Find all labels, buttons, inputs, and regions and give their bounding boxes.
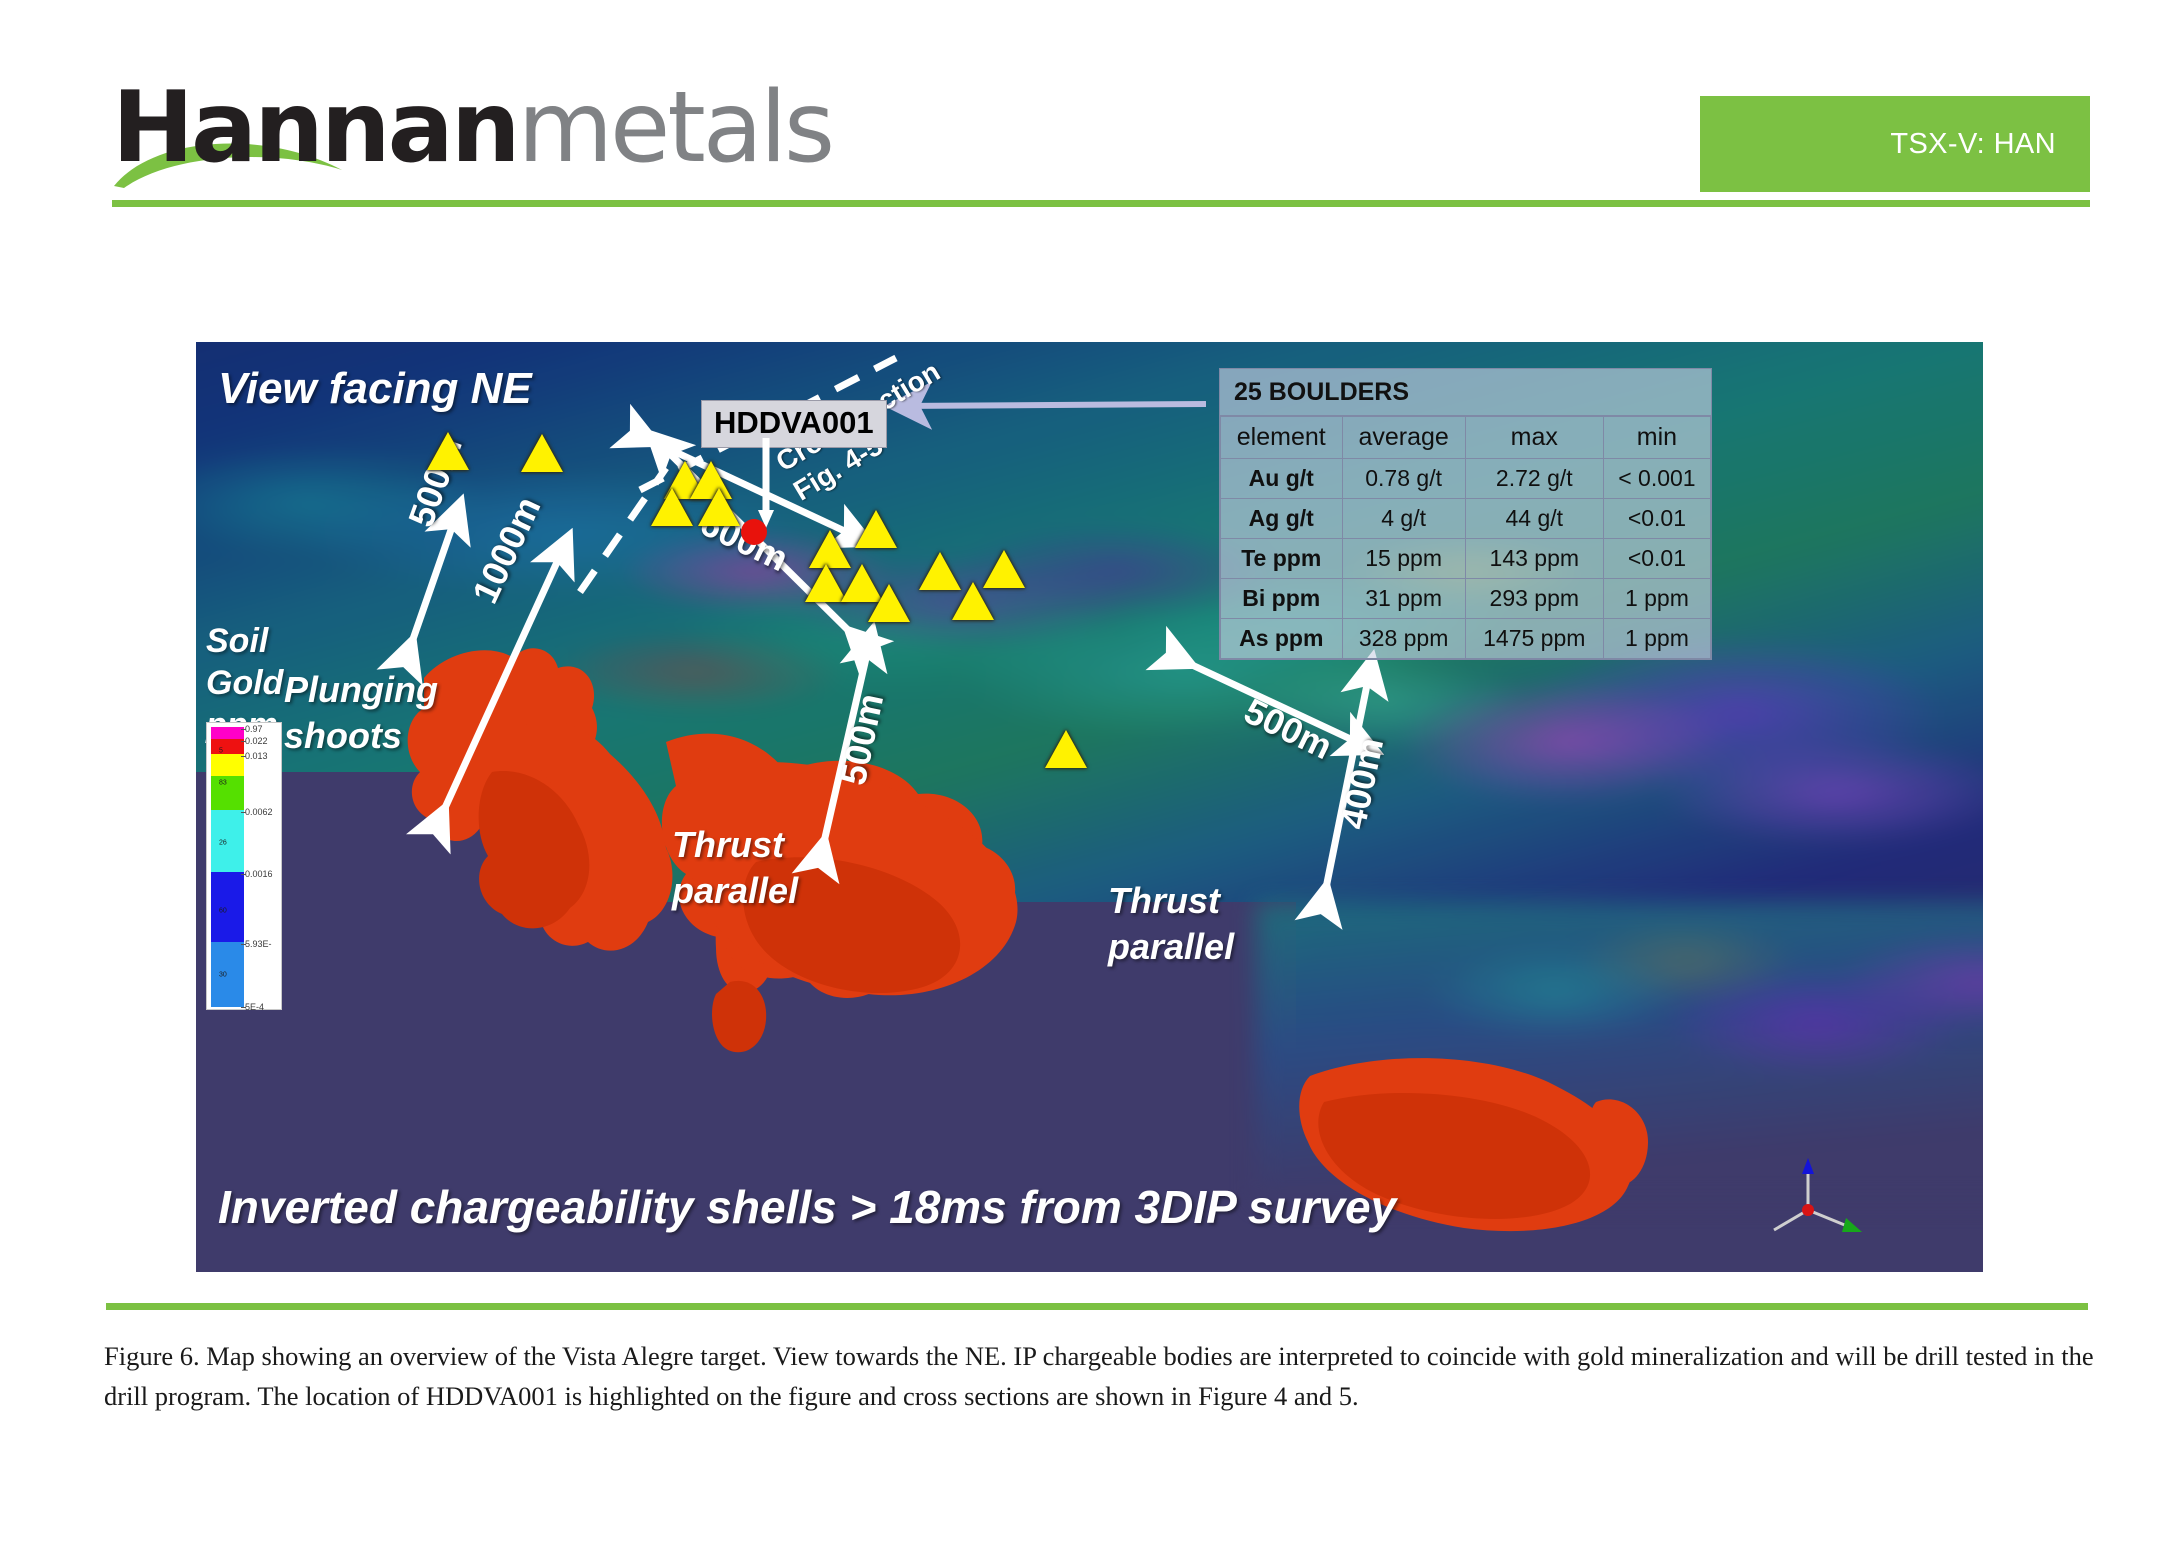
colorbar-segment	[211, 810, 244, 872]
boulder-sample-marker	[651, 488, 693, 526]
colorbar-segment	[211, 942, 244, 1007]
boulder-sample-marker	[855, 510, 897, 548]
drill-hole-leader-line	[746, 438, 786, 528]
legend-bin-count: 30	[219, 972, 227, 979]
company-logo: Hannanmetals	[112, 78, 932, 183]
legend-tick: 0.0016	[245, 869, 273, 879]
logo-metals-text: metals	[518, 71, 833, 185]
cell-max: 2.72 g/t	[1465, 459, 1603, 499]
annotation-thrust-parallel-1: Thrust parallel	[672, 822, 798, 914]
table-row: Ag g/t 4 g/t 44 g/t <0.01	[1221, 499, 1711, 539]
cell-min: <0.01	[1603, 499, 1710, 539]
table-row: Bi ppm 31 ppm 293 ppm 1 ppm	[1221, 579, 1711, 619]
logo-wordmark: Hannanmetals	[112, 78, 832, 178]
legend-tick: 5.93E-	[245, 939, 272, 949]
axis-orientation-triad-icon	[1766, 1152, 1876, 1242]
cell-element: Bi ppm	[1221, 579, 1343, 619]
cell-element: Au g/t	[1221, 459, 1343, 499]
figure-bottom-caption: Inverted chargeability shells > 18ms fro…	[218, 1180, 1396, 1234]
cell-max: 44 g/t	[1465, 499, 1603, 539]
cell-average: 4 g/t	[1342, 499, 1465, 539]
boulder-sample-marker	[698, 488, 740, 526]
figure-caption: Figure 6. Map showing an overview of the…	[104, 1336, 2094, 1416]
boulder-sample-marker	[868, 584, 910, 622]
cell-average: 31 ppm	[1342, 579, 1465, 619]
cell-min: 1 ppm	[1603, 579, 1710, 619]
table-row: Te ppm 15 ppm 143 ppm <0.01	[1221, 539, 1711, 579]
table-row: Au g/t 0.78 g/t 2.72 g/t < 0.001	[1221, 459, 1711, 499]
colorbar-segment	[211, 727, 244, 739]
cell-max: 1475 ppm	[1465, 619, 1603, 659]
annotation-thrust-parallel-2: Thrust parallel	[1108, 878, 1234, 970]
cell-average: 15 ppm	[1342, 539, 1465, 579]
ticker-badge: TSX-V: HAN	[1700, 96, 2090, 192]
ticker-label: TSX-V: HAN	[1890, 128, 2056, 161]
legend-tick: 5E-4	[245, 1002, 264, 1012]
boulder-table-grid: element average max min Au g/t 0.78 g/t …	[1220, 416, 1711, 659]
legend-colorbar	[211, 727, 244, 1007]
cell-element: Te ppm	[1221, 539, 1343, 579]
dimension-arrows	[196, 342, 1983, 1272]
header-divider	[112, 200, 2090, 207]
colorbar-segment	[211, 776, 244, 810]
footer-divider	[106, 1303, 2088, 1310]
cell-max: 293 ppm	[1465, 579, 1603, 619]
cell-min: <0.01	[1603, 539, 1710, 579]
cell-min: 1 ppm	[1603, 619, 1710, 659]
cell-min: < 0.001	[1603, 459, 1710, 499]
legend-colorbar-box: 0.97 0.022 0.013 0.0062 0.0016 5.93E- 5E…	[206, 722, 282, 1010]
legend-tick: 0.022	[245, 736, 268, 746]
cell-element: Ag g/t	[1221, 499, 1343, 539]
legend-tick: 0.013	[245, 751, 268, 761]
page-header: Hannanmetals TSX-V: HAN	[0, 0, 2182, 230]
column-header-min: min	[1603, 417, 1710, 459]
boulder-sample-marker	[521, 434, 563, 472]
slide-page: Hannanmetals TSX-V: HAN	[0, 0, 2182, 1542]
boulder-sample-marker	[952, 582, 994, 620]
column-header-average: average	[1342, 417, 1465, 459]
legend-bin-count: 5	[219, 748, 223, 755]
table-header-row: element average max min	[1221, 417, 1711, 459]
figure-image: View facing NE Inverted chargeability sh…	[196, 342, 1983, 1272]
logo-hannan-text: Hannan	[112, 71, 518, 185]
legend-bin-count: 60	[219, 908, 227, 915]
view-orientation-label: View facing NE	[218, 364, 532, 414]
drill-hole-label: HDDVA001	[701, 400, 887, 448]
cell-max: 143 ppm	[1465, 539, 1603, 579]
cell-element: As ppm	[1221, 619, 1343, 659]
boulder-sample-marker	[809, 530, 851, 568]
table-row: As ppm 328 ppm 1475 ppm 1 ppm	[1221, 619, 1711, 659]
column-header-element: element	[1221, 417, 1343, 459]
colorbar-segment	[211, 754, 244, 776]
boulder-sample-marker	[427, 432, 469, 470]
legend-tick: 0.0062	[245, 807, 273, 817]
boulder-sample-marker	[1045, 730, 1087, 768]
boulder-stats-table: 25 BOULDERS element average max min Au g…	[1219, 368, 1712, 660]
legend-tick: 0.97	[245, 724, 263, 734]
column-header-max: max	[1465, 417, 1603, 459]
cell-average: 0.78 g/t	[1342, 459, 1465, 499]
legend-bin-count: 26	[219, 840, 227, 847]
colorbar-segment	[211, 739, 244, 754]
colorbar-segment	[211, 872, 244, 942]
legend-bin-count: 83	[219, 780, 227, 787]
cell-average: 328 ppm	[1342, 619, 1465, 659]
drill-hole-collar-marker	[741, 519, 767, 545]
annotation-plunging-shoots: Plunging shoots	[284, 667, 438, 759]
boulder-table-title: 25 BOULDERS	[1220, 369, 1711, 416]
